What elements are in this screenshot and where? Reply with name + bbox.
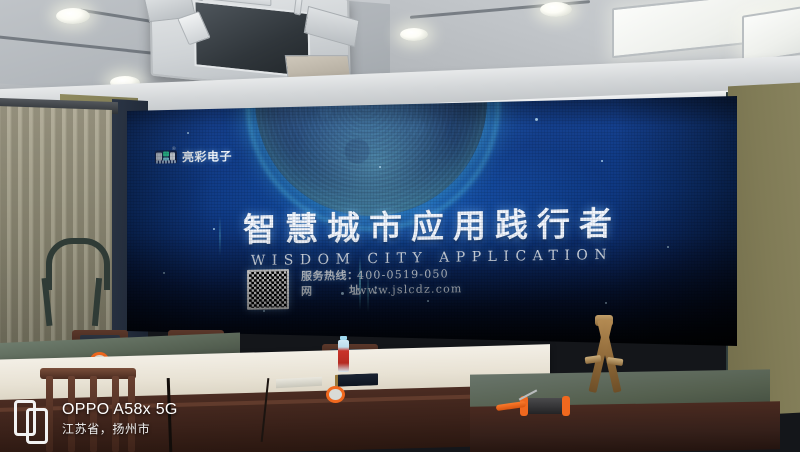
watermark-text: OPPO A58x 5G 江苏省，扬州市: [62, 400, 178, 438]
oppo-logo-icon: [14, 400, 48, 438]
photo-canvas: 亮彩电子 ® 智慧城市应用践行者 WISDOM CITY APPLICATION…: [0, 0, 800, 452]
downlight-icon: [400, 28, 428, 41]
wall-right-olive: [728, 82, 800, 417]
logo-shape-right: [26, 408, 48, 444]
ming-style-chair: [42, 238, 102, 322]
bottle-body: [338, 340, 349, 372]
camera-watermark: OPPO A58x 5G 江苏省，扬州市: [14, 400, 178, 438]
downlight-icon: [56, 8, 90, 24]
orange-tape-roll: [326, 386, 345, 403]
chair-top-rail: [40, 368, 136, 379]
roller-ring: [562, 396, 570, 416]
screen-vignette: [127, 96, 737, 346]
roller-barrel: [524, 398, 566, 414]
downlight-icon: [540, 2, 572, 17]
led-video-wall[interactable]: 亮彩电子 ® 智慧城市应用践行者 WISDOM CITY APPLICATION…: [127, 96, 737, 346]
wooden-stepladder: [575, 320, 631, 394]
watermark-location: 江苏省，扬州市: [62, 420, 178, 438]
paint-roller: [510, 398, 566, 414]
water-bottle: [338, 336, 349, 372]
watermark-device: OPPO A58x 5G: [62, 400, 178, 420]
notebook: [335, 373, 378, 387]
